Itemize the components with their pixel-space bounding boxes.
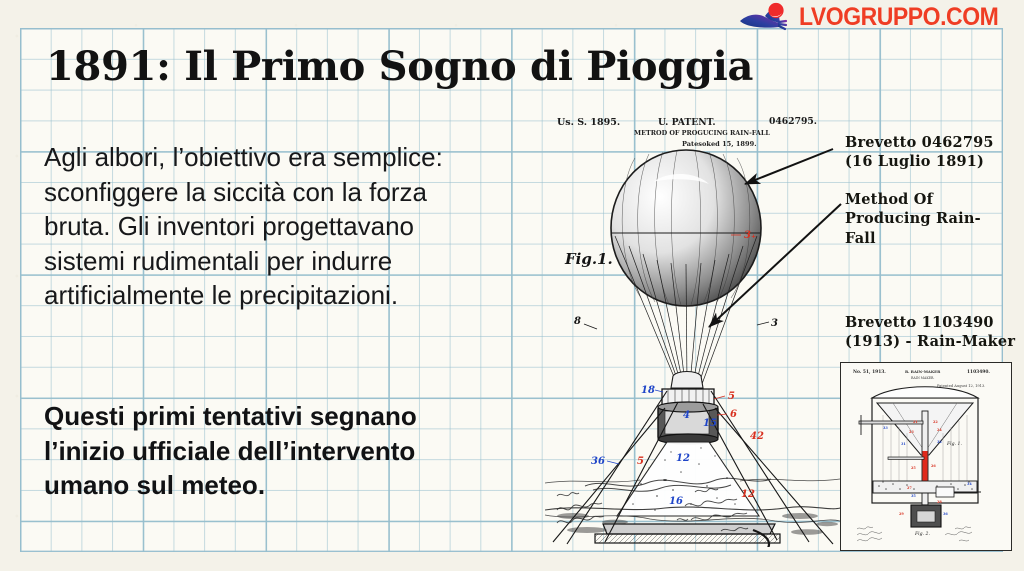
annotation-patent-1891-line2: (16 Luglio 1891): [845, 152, 1020, 171]
annotation-method-line3: Fall: [845, 229, 1020, 248]
callout-red-5: 5: [728, 391, 735, 402]
svg-text:32: 32: [937, 440, 942, 444]
callout-red-42: 42: [750, 431, 764, 442]
paragraph-conclusion: Questi primi tentativi segnano l’inizio …: [44, 399, 474, 503]
annotation-method-line2: Producing Rain-: [845, 209, 1020, 228]
annotation-method-title: Method Of Producing Rain- Fall: [845, 190, 1020, 248]
callout-red-3a: 3₊: [744, 230, 756, 241]
page-title: 1891: Il Primo Sogno di Pioggia: [46, 46, 786, 88]
callout-blue-15: 15: [703, 418, 717, 429]
annotation-patent-1913-line1: Brevetto 1103490: [845, 313, 1024, 332]
svg-text:33: 33: [883, 426, 888, 430]
patent-header-center: U. PATENT.: [658, 117, 716, 128]
annotation-patent-1913-line2: (1913) - Rain-Maker: [845, 332, 1024, 351]
svg-text:23: 23: [909, 430, 914, 434]
svg-text:36: 36: [943, 512, 948, 516]
patent-fig-label: Fig.1.: [564, 250, 613, 268]
inset-header-right: 1103490.: [967, 370, 990, 375]
callout-blue-16: 16: [669, 496, 683, 507]
svg-text:34: 34: [967, 482, 972, 486]
paragraph-intro: Agli albori, l’obiettivo era semplice: s…: [44, 140, 464, 313]
callout-blue-18: 18: [641, 385, 655, 396]
callout-blue-36: 36: [591, 456, 605, 467]
svg-text:28: 28: [937, 500, 942, 504]
callout-blue-12: 12: [676, 453, 690, 464]
callout-blue-4: 4: [683, 410, 690, 421]
callout-red-12: 12: [741, 489, 755, 500]
slide-canvas: LVOGRUPPO.COM 1891: Il Primo Sogno di Pi…: [0, 0, 1024, 571]
svg-text:25: 25: [911, 466, 916, 470]
body-text-column: Agli albori, l’obiettivo era semplice: s…: [44, 140, 464, 313]
svg-text:35: 35: [911, 494, 916, 498]
inset-header-left: No. 51, 1913.: [853, 370, 886, 375]
patent-dateline: Patesoked 15, 1899.: [682, 140, 757, 148]
callout-black-3: 3: [771, 318, 778, 329]
svg-text:31: 31: [901, 442, 906, 446]
patent-subtitle: METROD OF PROGUCING RAIN-FALL: [634, 129, 770, 137]
annotation-patent-1891-line1: Brevetto 0462795: [845, 133, 1020, 152]
callout-red-6: 6: [730, 409, 737, 420]
svg-text:29: 29: [899, 512, 904, 516]
inset-header-center: R. RAIN-MAKER: [905, 369, 941, 374]
annotation-patent-1891: Brevetto 0462795 (16 Luglio 1891): [845, 133, 1020, 172]
patent-drawing-balloon: Us. S. 1895. U. PATENT. 0462795. METROD …: [545, 112, 840, 547]
callout-red-5b: 5: [637, 456, 644, 467]
inset-fig-label-right: Fig. 1.: [946, 441, 962, 447]
svg-text:24: 24: [937, 428, 942, 432]
inset-heated-column: [923, 451, 928, 485]
site-logo[interactable]: LVOGRUPPO.COM: [738, 2, 1016, 32]
inset-subtitle: RAIN MAKER.: [911, 376, 934, 380]
callout-black-8: 8: [574, 316, 581, 327]
svg-text:21: 21: [913, 420, 918, 424]
inset-fig-label: Fig. 2.: [914, 531, 930, 537]
annotation-method-line1: Method Of: [845, 190, 1020, 209]
patent-drawing-rainmaker-inset: No. 51, 1913. R. RAIN-MAKER 1103490. RAI…: [840, 362, 1012, 551]
svg-text:26: 26: [931, 464, 936, 468]
patent-header-left: Us. S. 1895.: [557, 117, 620, 128]
annotation-patent-1913: Brevetto 1103490 (1913) - Rain-Maker: [845, 313, 1024, 352]
svg-text:27: 27: [907, 486, 912, 490]
svg-text:22: 22: [933, 420, 938, 424]
logo-text: LVOGRUPPO.COM: [799, 2, 998, 32]
whale-splash-mark-icon: [738, 2, 798, 32]
patent-header-right: 0462795.: [769, 116, 817, 127]
